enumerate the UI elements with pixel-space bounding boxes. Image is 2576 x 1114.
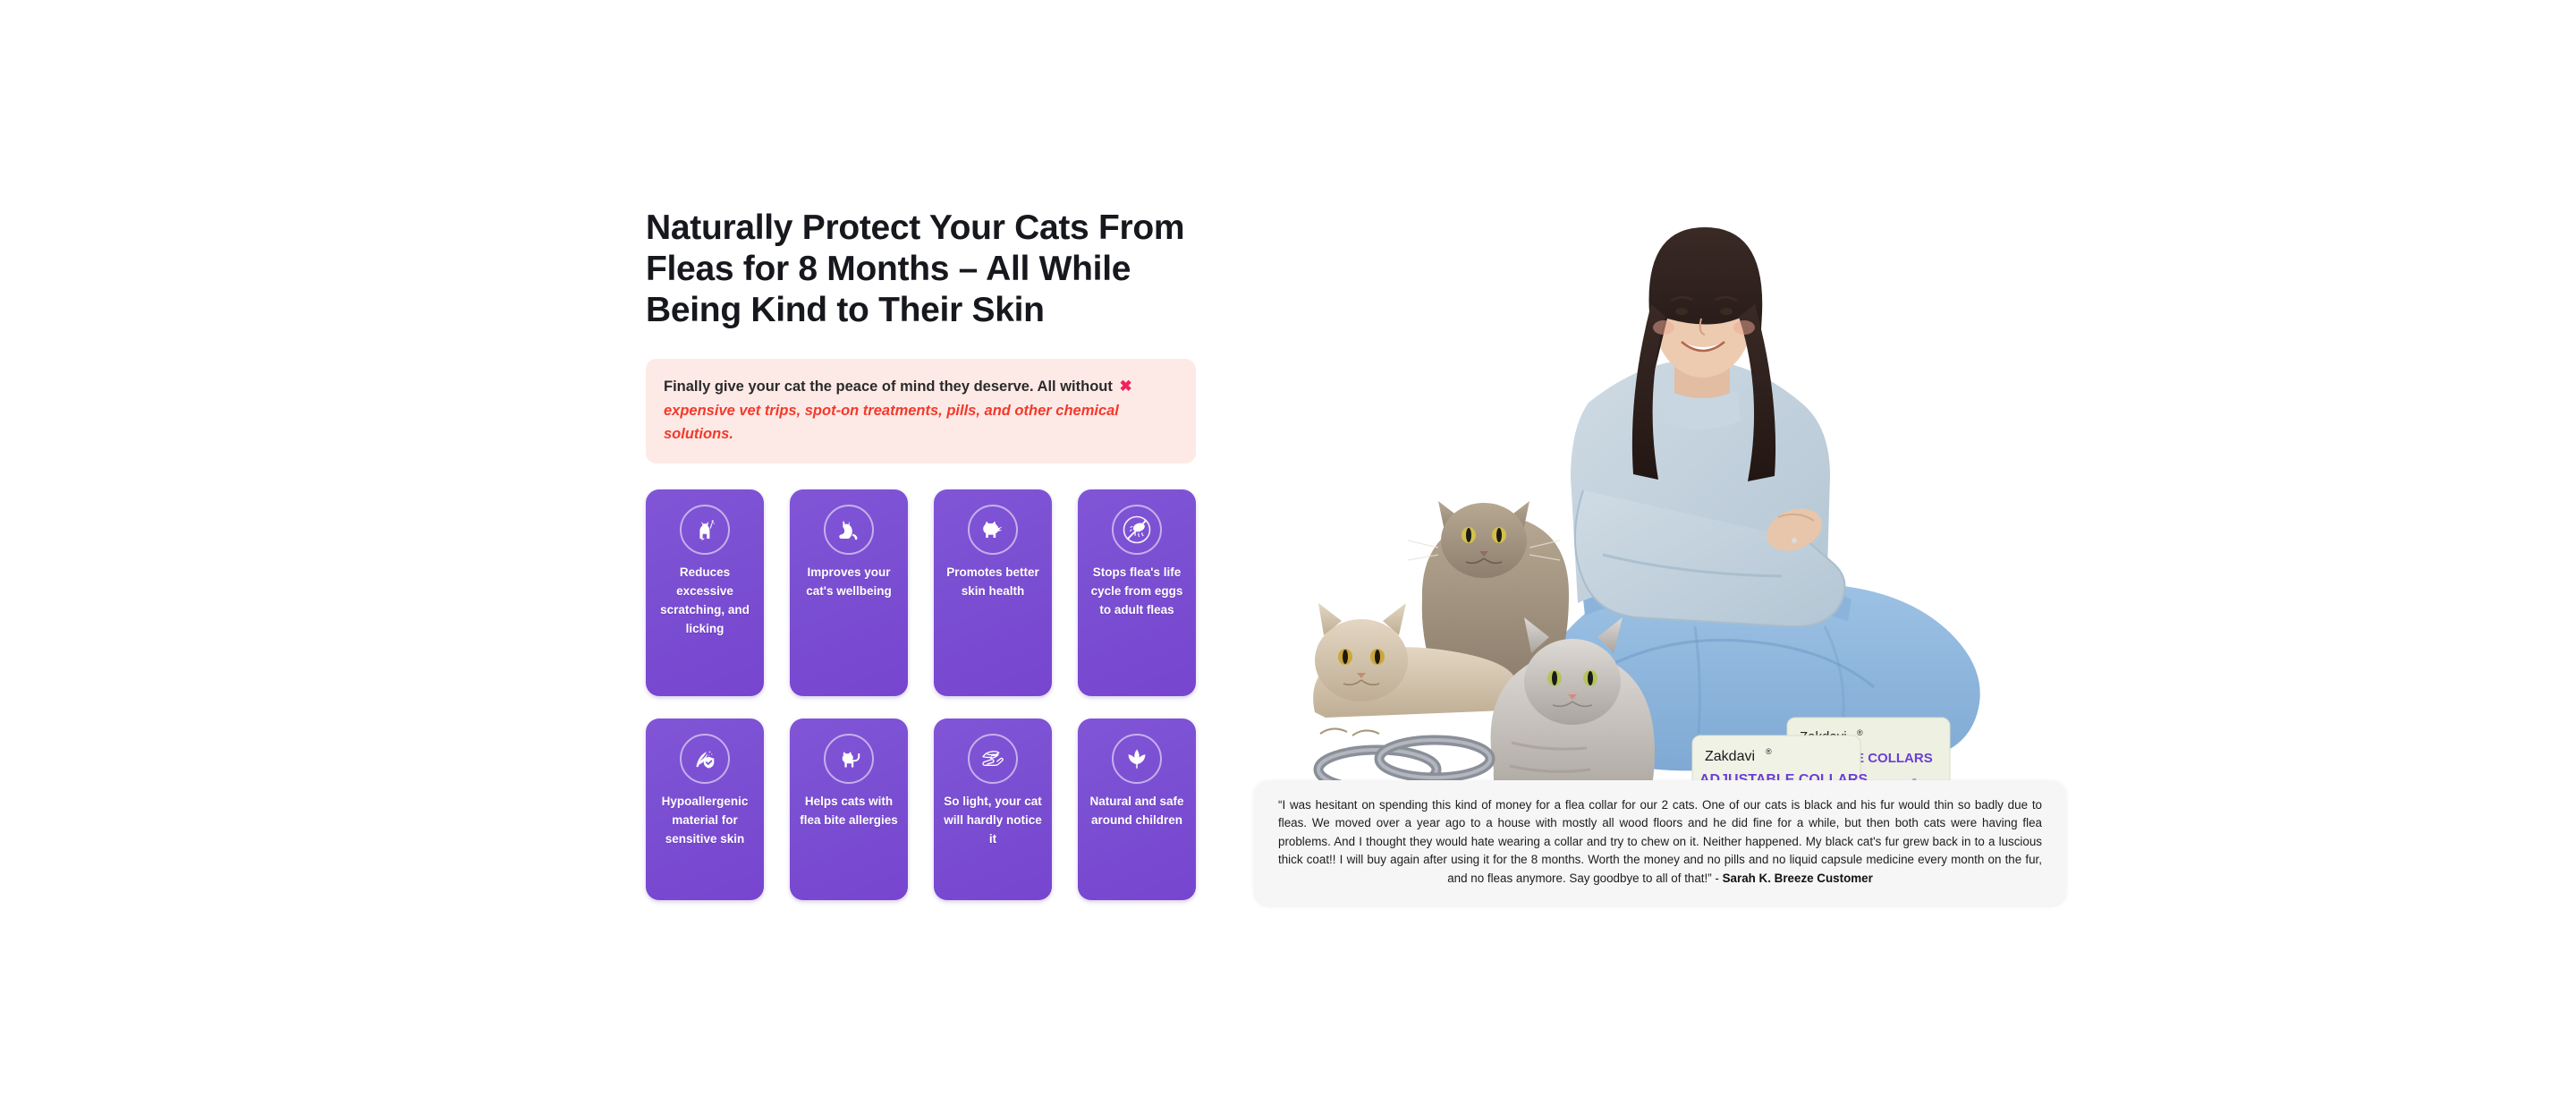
svg-text:®: ® [1857, 728, 1863, 737]
feather-hand-icon [968, 734, 1018, 784]
benefit-label: Reduces excessive scratching, and lickin… [655, 563, 755, 638]
benefit-label: Helps cats with flea bite allergies [799, 792, 899, 829]
left-content-column: Naturally Protect Your Cats From Fleas f… [646, 208, 1196, 463]
testimonial-text: “I was hesitant on spending this kind of… [1278, 796, 2042, 888]
cat-skin-health-icon [968, 505, 1018, 555]
testimonial-author: Sarah K. Breeze Customer [1723, 872, 1873, 885]
benefit-card-reduces-scratching[interactable]: Reduces excessive scratching, and lickin… [646, 489, 764, 696]
svg-text:®: ® [1766, 747, 1772, 756]
x-mark-icon: ✖ [1116, 378, 1134, 395]
promise-callout: Finally give your cat the peace of mind … [646, 359, 1196, 463]
benefit-label: Natural and safe around children [1087, 792, 1187, 829]
benefit-card-grid: Reduces excessive scratching, and lickin… [646, 489, 1196, 900]
testimonial-quote: “I was hesitant on spending this kind of… [1278, 798, 2042, 885]
benefit-label: Hypoallergenic material for sensitive sk… [655, 792, 755, 848]
customer-testimonial-card: “I was hesitant on spending this kind of… [1254, 780, 2066, 906]
leaves-icon [1112, 734, 1162, 784]
benefit-card-lightweight[interactable]: So light, your cat will hardly notice it [934, 719, 1052, 900]
benefit-card-improves-wellbeing[interactable]: Improves your cat's wellbeing [790, 489, 908, 696]
benefit-card-flea-bite-allergies[interactable]: Helps cats with flea bite allergies [790, 719, 908, 900]
benefit-card-natural-safe[interactable]: Natural and safe around children [1078, 719, 1196, 900]
benefit-card-hypoallergenic[interactable]: Hypoallergenic material for sensitive sk… [646, 719, 764, 900]
hero-illustration: Zakdavi ® JUSTABLE COLLARS A natural eff… [1288, 179, 2039, 805]
cat-scratching-icon [680, 505, 730, 555]
hero-image: Zakdavi ® JUSTABLE COLLARS A natural eff… [1288, 179, 2039, 805]
benefit-label: Promotes better skin health [943, 563, 1043, 600]
no-flea-icon [1112, 505, 1162, 555]
benefit-card-skin-health[interactable]: Promotes better skin health [934, 489, 1052, 696]
benefit-label: Improves your cat's wellbeing [799, 563, 899, 600]
product-brand: Zakdavi [1705, 749, 1755, 764]
landing-section: Naturally Protect Your Cats From Fleas f… [0, 0, 2576, 1114]
benefit-label: So light, your cat will hardly notice it [943, 792, 1043, 848]
page-title: Naturally Protect Your Cats From Fleas f… [646, 208, 1193, 331]
promise-lead-text: Finally give your cat the peace of mind … [664, 378, 1113, 395]
promise-emphasis-text: expensive vet trips, spot-on treatments,… [664, 403, 1119, 443]
walking-cat-icon [824, 734, 874, 784]
sitting-cat-icon [824, 505, 874, 555]
benefit-label: Stops flea's life cycle from eggs to adu… [1087, 563, 1187, 619]
benefit-card-stops-flea-cycle[interactable]: Stops flea's life cycle from eggs to adu… [1078, 489, 1196, 696]
feather-shield-icon [680, 734, 730, 784]
promise-text: Finally give your cat the peace of mind … [664, 374, 1178, 446]
